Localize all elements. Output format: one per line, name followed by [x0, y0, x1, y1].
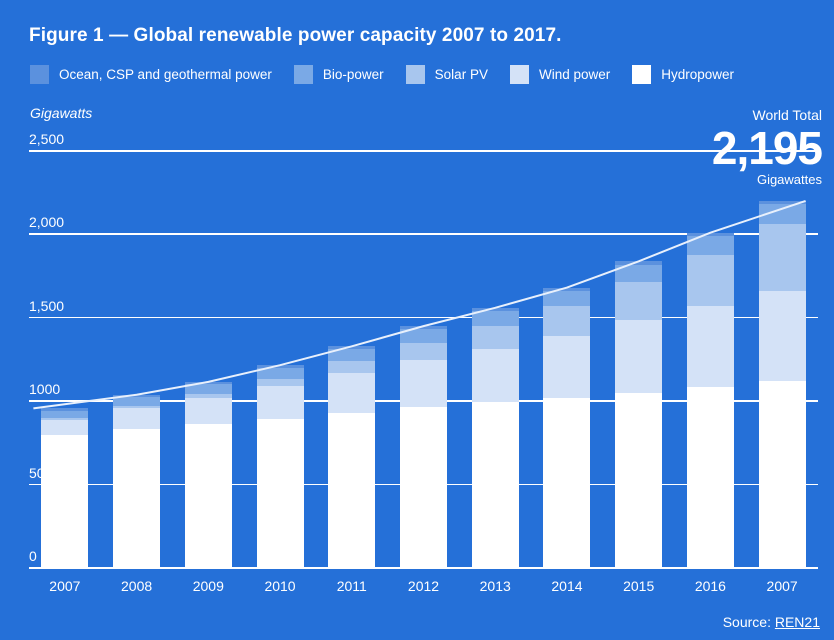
page-title: Figure 1 — Global renewable power capaci…	[29, 25, 562, 47]
bar-segment-solar-pv	[400, 343, 447, 360]
bar-group-2015-8[interactable]	[615, 261, 662, 567]
bar-group-2009-2[interactable]	[185, 382, 232, 567]
world-total-label: World Total	[712, 108, 822, 122]
x-tick-label-10: 2007	[752, 578, 812, 594]
bar-segment-hydropower	[759, 381, 806, 567]
bar-group-2007-10[interactable]	[759, 201, 806, 567]
legend-item-biopower[interactable]: Bio-power	[294, 65, 384, 84]
legend-item-solar-pv[interactable]: Solar PV	[406, 65, 488, 84]
legend-label-hydropower: Hydropower	[661, 67, 734, 82]
source-prefix: Source:	[723, 614, 775, 630]
x-tick-label-2: 2009	[178, 578, 238, 594]
bar-segment-bio-power	[257, 368, 304, 379]
chart-legend: Ocean, CSP and geothermal power Bio-powe…	[30, 63, 756, 85]
legend-swatch-ocean-csp-geothermal	[30, 65, 49, 84]
source-note: Source: REN21	[723, 614, 820, 630]
legend-swatch-hydropower	[632, 65, 651, 84]
legend-swatch-biopower	[294, 65, 313, 84]
bar-segment-solar-pv	[687, 255, 734, 306]
bar-segment-hydropower	[113, 429, 160, 567]
bar-segment-solar-pv	[472, 326, 519, 349]
bar-segment-wind-power	[615, 320, 662, 392]
chart-plot-area: 050010001,5002,0002,500	[0, 130, 834, 580]
legend-item-wind-power[interactable]: Wind power	[510, 65, 610, 84]
bar-segment-bio-power	[687, 236, 734, 255]
bar-segment-hydropower	[328, 413, 375, 567]
bar-segment-hydropower	[615, 393, 662, 567]
bar-group-2008-1[interactable]	[113, 395, 160, 567]
x-tick-label-5: 2012	[394, 578, 454, 594]
bar-segment-solar-pv	[759, 224, 806, 291]
source-link[interactable]: REN21	[775, 614, 820, 630]
bar-segment-hydropower	[185, 424, 232, 567]
legend-label-ocean-csp-geothermal: Ocean, CSP and geothermal power	[59, 67, 272, 82]
bar-segment-wind-power	[759, 291, 806, 381]
bar-segment-wind-power	[185, 398, 232, 425]
bar-segment-solar-pv	[328, 361, 375, 373]
bar-group-2016-9[interactable]	[687, 233, 734, 567]
x-tick-label-4: 2011	[322, 578, 382, 594]
legend-swatch-solar-pv	[406, 65, 425, 84]
legend-item-hydropower[interactable]: Hydropower	[632, 65, 734, 84]
bar-segment-hydropower	[400, 407, 447, 567]
bar-segment-wind-power	[113, 408, 160, 428]
bar-segment-wind-power	[400, 360, 447, 407]
bar-group-2010-3[interactable]	[257, 365, 304, 567]
bar-group-2014-7[interactable]	[543, 288, 590, 567]
bar-segment-bio-power	[759, 204, 806, 224]
bar-segment-wind-power	[543, 336, 590, 398]
x-tick-label-3: 2010	[250, 578, 310, 594]
bar-segment-hydropower	[257, 419, 304, 567]
bar-segment-wind-power	[328, 373, 375, 413]
x-tick-label-6: 2013	[465, 578, 525, 594]
bar-segment-bio-power	[185, 384, 232, 394]
bar-group-2007-0[interactable]	[41, 408, 88, 567]
bar-segment-hydropower	[543, 398, 590, 567]
bar-segment-hydropower	[687, 387, 734, 567]
bar-segment-wind-power	[687, 306, 734, 387]
bar-group-2013-6[interactable]	[472, 308, 519, 567]
bar-segment-bio-power	[400, 329, 447, 343]
bar-segment-wind-power	[41, 420, 88, 436]
bar-segment-solar-pv	[615, 282, 662, 320]
bar-segment-solar-pv	[543, 306, 590, 336]
bar-series-layer	[0, 130, 834, 580]
bar-segment-bio-power	[472, 311, 519, 326]
bar-group-2012-5[interactable]	[400, 326, 447, 567]
bar-segment-bio-power	[41, 411, 88, 419]
bar-group-2011-4[interactable]	[328, 346, 375, 567]
x-axis-tick-labels: 2007200820092010201120122013201420152016…	[0, 578, 834, 600]
x-tick-label-8: 2015	[609, 578, 669, 594]
bar-segment-hydropower	[472, 402, 519, 567]
bar-segment-wind-power	[472, 349, 519, 402]
legend-label-solar-pv: Solar PV	[435, 67, 488, 82]
x-tick-label-9: 2016	[680, 578, 740, 594]
bar-segment-solar-pv	[257, 379, 304, 386]
bar-segment-bio-power	[543, 291, 590, 307]
legend-label-wind-power: Wind power	[539, 67, 610, 82]
legend-item-ocean-csp-geothermal[interactable]: Ocean, CSP and geothermal power	[30, 65, 272, 84]
y-axis-title: Gigawatts	[30, 105, 92, 121]
x-tick-label-1: 2008	[107, 578, 167, 594]
bar-segment-bio-power	[113, 397, 160, 406]
x-tick-label-7: 2014	[537, 578, 597, 594]
legend-label-biopower: Bio-power	[323, 67, 384, 82]
bar-segment-bio-power	[615, 265, 662, 283]
legend-swatch-wind-power	[510, 65, 529, 84]
x-tick-label-0: 2007	[35, 578, 95, 594]
bar-segment-hydropower	[41, 435, 88, 567]
bar-segment-wind-power	[257, 386, 304, 419]
bar-segment-bio-power	[328, 349, 375, 361]
